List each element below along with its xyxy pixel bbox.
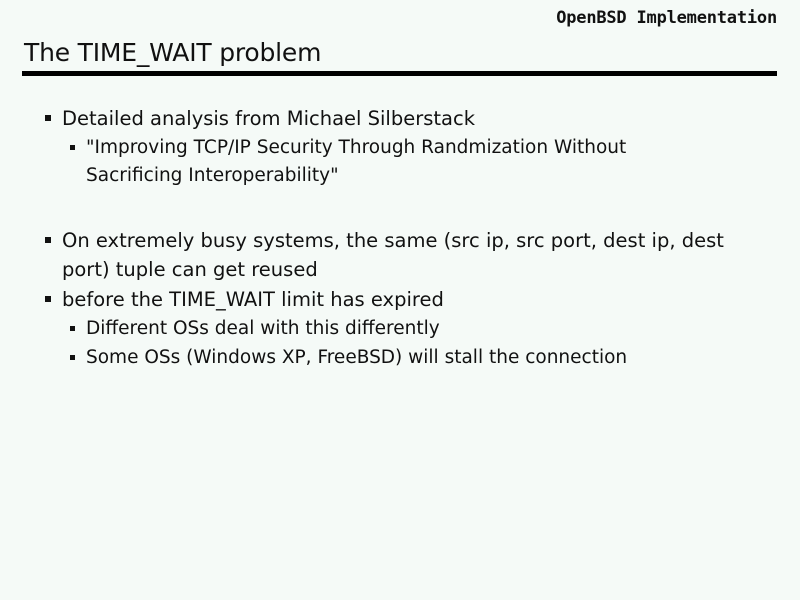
bullet-text: Some OSs (Windows XP, FreeBSD) will stal…: [86, 344, 710, 372]
bullet-item: Detailed analysis from Michael Silbersta…: [0, 104, 800, 133]
bullet-item: Some OSs (Windows XP, FreeBSD) will stal…: [0, 344, 800, 372]
bullet-item: On extremely busy systems, the same (src…: [0, 226, 800, 284]
slide: OpenBSD Implementation The TIME_WAIT pro…: [0, 0, 800, 600]
square-bullet-icon: [70, 355, 75, 360]
bullet-text: On extremely busy systems, the same (src…: [62, 226, 740, 284]
square-bullet-icon: [70, 326, 75, 331]
bullet-text: Detailed analysis from Michael Silbersta…: [62, 104, 740, 133]
bullet-item: before the TIME_WAIT limit has expired: [0, 285, 800, 314]
title-divider: [22, 71, 777, 76]
bullet-text: Different OSs deal with this differently: [86, 315, 710, 343]
slide-body: Detailed analysis from Michael Silbersta…: [0, 104, 800, 373]
running-head: OpenBSD Implementation: [556, 8, 777, 28]
bullet-group: On extremely busy systems, the same (src…: [0, 226, 800, 372]
bullet-text: "Improving TCP/IP Security Through Randm…: [86, 134, 710, 190]
square-bullet-icon: [45, 296, 51, 302]
square-bullet-icon: [45, 115, 51, 121]
square-bullet-icon: [70, 145, 75, 150]
group-spacer: [0, 191, 800, 226]
bullet-text: before the TIME_WAIT limit has expired: [62, 285, 740, 314]
bullet-item: Different OSs deal with this differently: [0, 315, 800, 343]
bullet-group: Detailed analysis from Michael Silbersta…: [0, 104, 800, 190]
bullet-item: "Improving TCP/IP Security Through Randm…: [0, 134, 800, 190]
square-bullet-icon: [45, 237, 51, 243]
page-title: The TIME_WAIT problem: [24, 38, 321, 67]
